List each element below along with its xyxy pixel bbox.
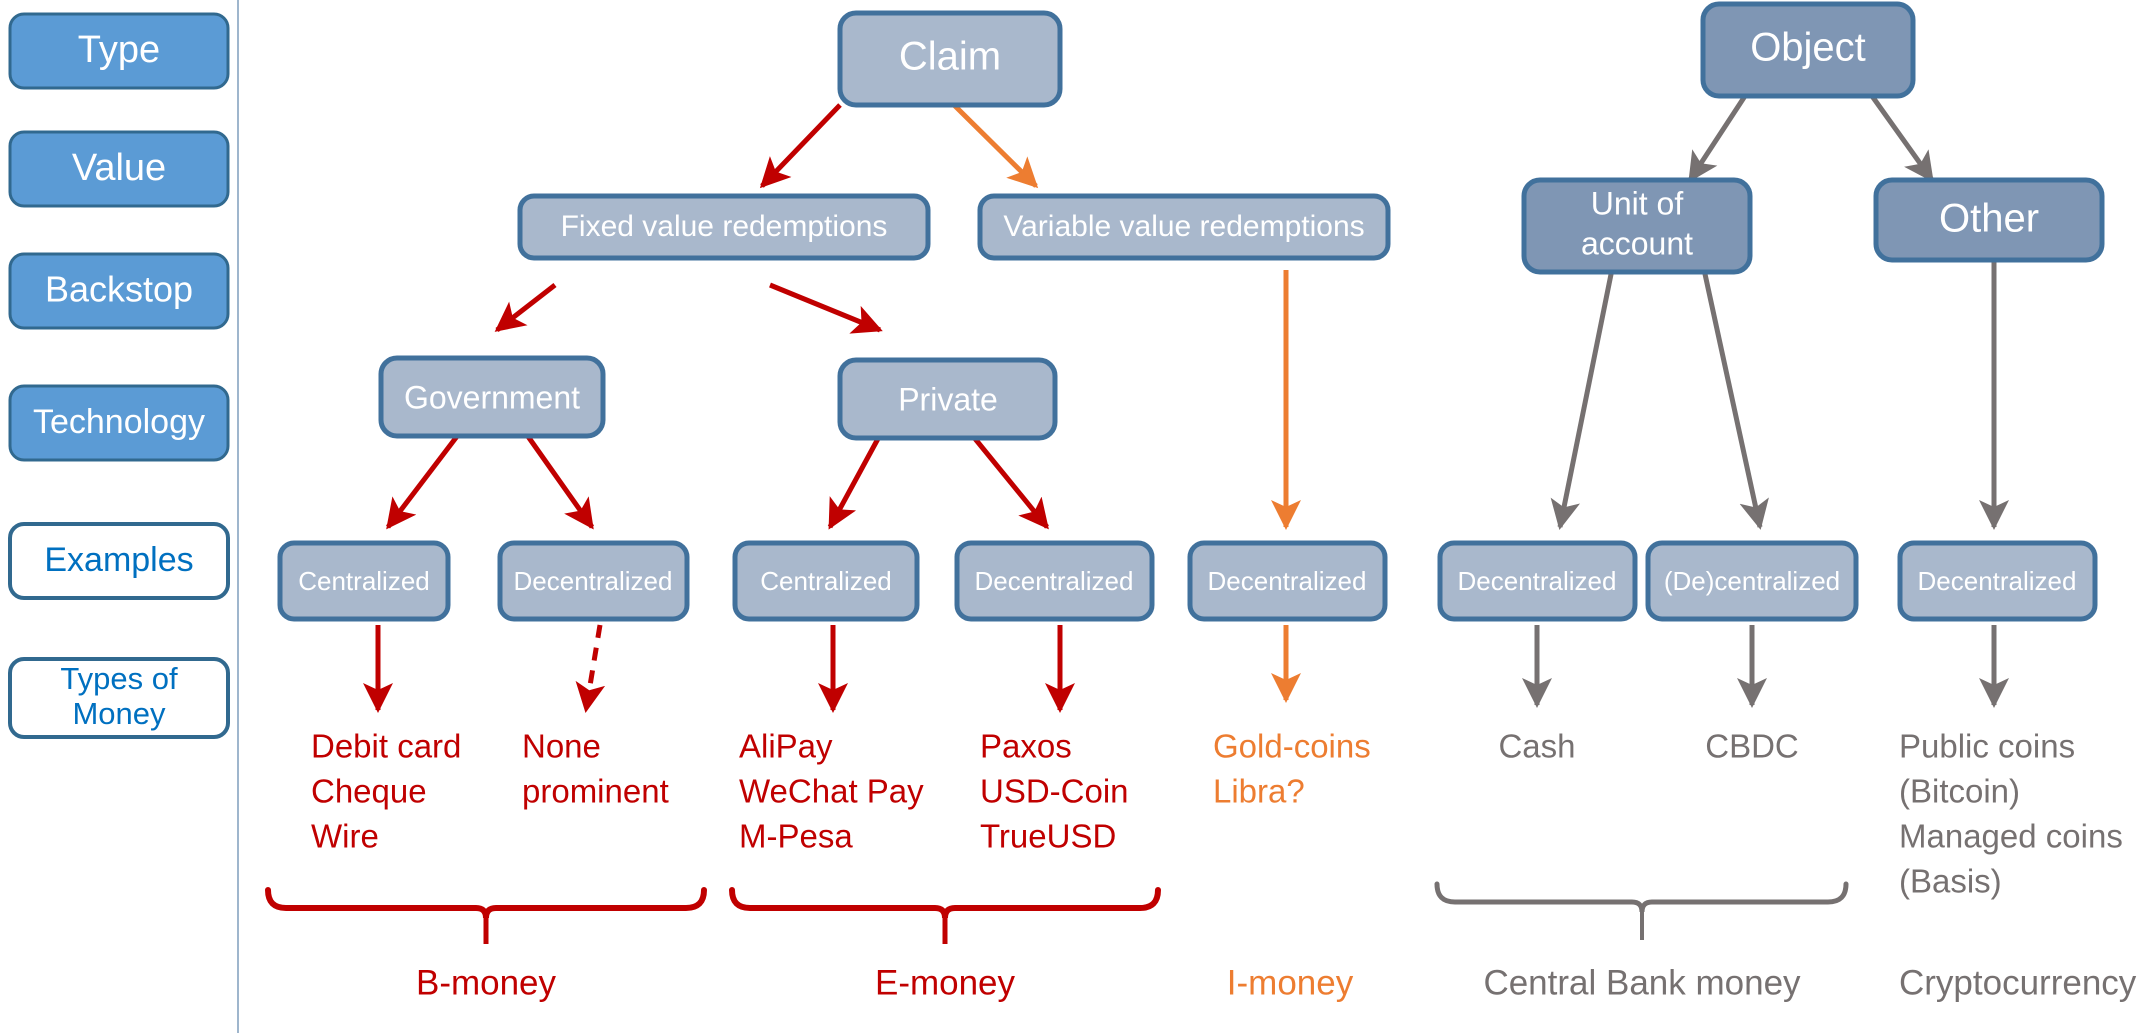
node-government[interactable]: Government (381, 358, 603, 436)
node-private-label: Private (898, 381, 998, 417)
brace-central-bank-money (1437, 884, 1846, 940)
node-tech-unit-decentralized-label: Decentralized (1458, 566, 1617, 596)
row-label-type: Type (10, 14, 228, 88)
examples-crypto: Public coins (Bitcoin) Managed coins (Ba… (1899, 728, 2123, 900)
examples-debit: Debit card Cheque Wire (311, 728, 461, 855)
examples-none-line-1: prominent (522, 773, 669, 810)
node-tech-priv-decentralized[interactable]: Decentralized (957, 543, 1152, 619)
examples-debit-line-0: Debit card (311, 728, 461, 765)
connector-gov-to-centralized (388, 435, 458, 527)
node-tech-unit-decentralized[interactable]: Decentralized (1440, 543, 1635, 619)
node-tech-other-decentralized[interactable]: Decentralized (1900, 543, 2095, 619)
examples-debit-line-1: Cheque (311, 773, 427, 810)
examples-paxos-line-1: USD-Coin (980, 773, 1129, 810)
money-type-e-money: E-money (875, 963, 1016, 1002)
node-claim-label: Claim (899, 35, 1001, 79)
connector-priv-to-centralized (830, 435, 880, 527)
examples-gold-line-0: Gold-coins (1213, 728, 1371, 765)
node-claim[interactable]: Claim (840, 13, 1060, 105)
row-label-backstop: Backstop (10, 254, 228, 328)
node-tech-unit-decentralized-2[interactable]: (De)centralized (1648, 543, 1856, 619)
row-label-value: Value (10, 132, 228, 206)
node-tech-gov-decentralized-label: Decentralized (514, 566, 673, 596)
money-type-i-money: I-money (1227, 963, 1354, 1002)
examples-none-line-0: None (522, 728, 601, 765)
money-taxonomy-diagram: Type Value Backstop Technology Examples … (0, 0, 2145, 1033)
examples-cbdc-line-0: CBDC (1705, 728, 1799, 765)
examples-cash: Cash (1498, 728, 1575, 765)
node-unit-of-account-line2: account (1581, 225, 1693, 261)
node-other-label: Other (1939, 197, 2039, 241)
connector-gov-to-decentralized (527, 435, 592, 527)
node-object[interactable]: Object (1703, 4, 1913, 96)
brace-e-money (732, 890, 1158, 944)
node-tech-priv-centralized[interactable]: Centralized (735, 543, 917, 619)
node-private[interactable]: Private (840, 360, 1055, 438)
row-label-value-text: Value (72, 147, 166, 189)
connector-claim-to-fixed (762, 105, 840, 186)
node-object-label: Object (1750, 26, 1866, 70)
row-label-technology-text: Technology (33, 403, 205, 441)
money-type-b-money: B-money (416, 963, 557, 1002)
examples-alipay-line-1: WeChat Pay (739, 773, 924, 810)
node-variable-value-redemptions[interactable]: Variable value redemptions (980, 196, 1388, 258)
node-variable-value-redemptions-label: Variable value redemptions (1003, 210, 1364, 243)
node-tech-priv-decentralized-label: Decentralized (975, 566, 1134, 596)
node-fixed-value-redemptions[interactable]: Fixed value redemptions (520, 196, 928, 258)
examples-crypto-line-3: (Basis) (1899, 863, 2002, 900)
examples-alipay-line-2: M-Pesa (739, 818, 853, 855)
money-type-cryptocurrency: Cryptocurrency (1899, 963, 2137, 1002)
brace-b-money (268, 890, 704, 944)
examples-paxos-line-0: Paxos (980, 728, 1072, 765)
examples-cbdc: CBDC (1705, 728, 1799, 765)
row-label-types-of-money-line1: Types of (60, 661, 178, 696)
connector-fixed-to-government (497, 285, 555, 330)
examples-alipay-line-0: AliPay (739, 728, 833, 765)
connector-priv-to-decentralized (972, 435, 1047, 527)
node-tech-variable-decentralized-label: Decentralized (1208, 566, 1367, 596)
node-unit-of-account-line1: Unit of (1591, 185, 1684, 221)
examples-gold: Gold-coins Libra? (1213, 728, 1371, 810)
connector-object-to-other (1872, 96, 1932, 180)
examples-paxos-line-2: TrueUSD (980, 818, 1116, 855)
connector-object-to-unit (1690, 96, 1745, 180)
node-tech-gov-centralized-label: Centralized (298, 566, 430, 596)
examples-paxos: Paxos USD-Coin TrueUSD (980, 728, 1129, 855)
money-type-central-bank-money: Central Bank money (1483, 963, 1801, 1002)
node-tech-gov-centralized[interactable]: Centralized (280, 543, 448, 619)
examples-crypto-line-0: Public coins (1899, 728, 2075, 765)
row-label-types-of-money: Types of Money (10, 659, 228, 737)
node-fixed-value-redemptions-label: Fixed value redemptions (561, 210, 888, 243)
node-government-label: Government (404, 379, 580, 415)
node-tech-unit-decentralized-2-label: (De)centralized (1664, 566, 1840, 596)
node-tech-gov-decentralized[interactable]: Decentralized (500, 543, 687, 619)
examples-debit-line-2: Wire (311, 818, 379, 855)
node-unit-of-account[interactable]: Unit of account (1524, 180, 1750, 272)
examples-cash-line-0: Cash (1498, 728, 1575, 765)
examples-crypto-line-2: Managed coins (1899, 818, 2123, 855)
examples-crypto-line-1: (Bitcoin) (1899, 773, 2020, 810)
examples-alipay: AliPay WeChat Pay M-Pesa (739, 728, 924, 855)
row-label-examples: Examples (10, 524, 228, 598)
row-label-type-text: Type (78, 29, 160, 71)
examples-none: None prominent (522, 728, 669, 810)
connector-fixed-to-private (770, 285, 880, 330)
row-label-types-of-money-line2: Money (72, 696, 166, 731)
connector-decentralized-to-none (586, 625, 600, 710)
diagram-canvas: Type Value Backstop Technology Examples … (0, 0, 2145, 1033)
node-other[interactable]: Other (1876, 180, 2102, 260)
connector-claim-to-variable (954, 105, 1036, 186)
examples-gold-line-1: Libra? (1213, 773, 1305, 810)
node-tech-priv-centralized-label: Centralized (760, 566, 892, 596)
row-label-examples-text: Examples (44, 541, 193, 579)
node-tech-other-decentralized-label: Decentralized (1918, 566, 2077, 596)
row-label-technology: Technology (10, 386, 228, 460)
node-tech-variable-decentralized[interactable]: Decentralized (1190, 543, 1385, 619)
row-label-backstop-text: Backstop (45, 269, 193, 310)
